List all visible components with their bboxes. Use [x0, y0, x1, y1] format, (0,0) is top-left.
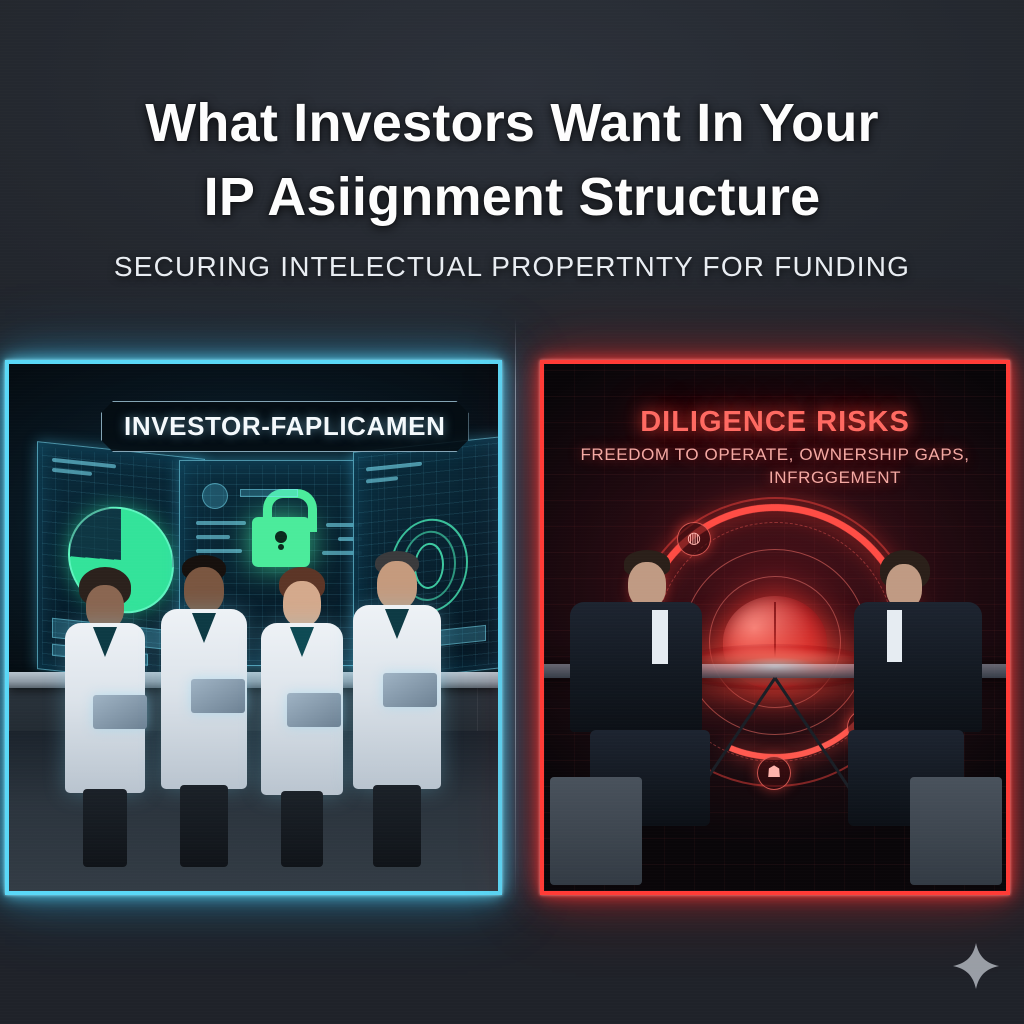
poster-header: What Investors Want In Your IP Asiignmen…	[0, 86, 1024, 284]
poster-subtitle: SECURING INTELECTUAL PROPERTNTY FOR FUND…	[0, 250, 1024, 284]
poster-canvas: What Investors Want In Your IP Asiignmen…	[0, 0, 1024, 1024]
scientist-figure	[161, 555, 247, 867]
diligence-risk-header: DILIGENCE RISKS FREEDOM TO OPERATE, OWNE…	[544, 406, 1006, 489]
diligence-subtitle-line-2: INFRGGEMENT	[568, 466, 982, 489]
scientist-figure	[65, 567, 145, 867]
title-line-1: What Investors Want In Your	[0, 86, 1024, 160]
diligence-risks-title: DILIGENCE RISKS	[544, 406, 1006, 439]
right-panel-scene: DILIGENCE RISKS FREEDOM TO OPERATE, OWNE…	[544, 364, 1006, 891]
investor-badge: INVESTOR-FAPLICAMEN	[101, 401, 469, 452]
scientist-figure	[353, 551, 441, 867]
right-panel-diligence[interactable]: DILIGENCE RISKS FREEDOM TO OPERATE, OWNE…	[540, 360, 1010, 895]
chair	[550, 777, 642, 885]
diligence-subtitle-line-1: FREEDOM TO OPERATE, OWNERSHIP GAPS,	[580, 445, 969, 464]
investor-badge-label: INVESTOR-FAPLICAMEN	[124, 411, 446, 441]
title-line-2: IP Asiignment Structure	[0, 160, 1024, 234]
sparkle-icon	[952, 942, 1000, 990]
left-panel-scene: INVESTOR-FAPLICAMEN	[9, 364, 498, 891]
padlock-icon	[252, 517, 310, 567]
center-divider	[515, 318, 516, 898]
left-panel-investor[interactable]: INVESTOR-FAPLICAMEN	[5, 360, 502, 895]
scientist-figure	[261, 567, 343, 867]
diligence-risks-subtitle: FREEDOM TO OPERATE, OWNERSHIP GAPS, INFR…	[544, 443, 1006, 489]
chair	[910, 777, 1002, 885]
